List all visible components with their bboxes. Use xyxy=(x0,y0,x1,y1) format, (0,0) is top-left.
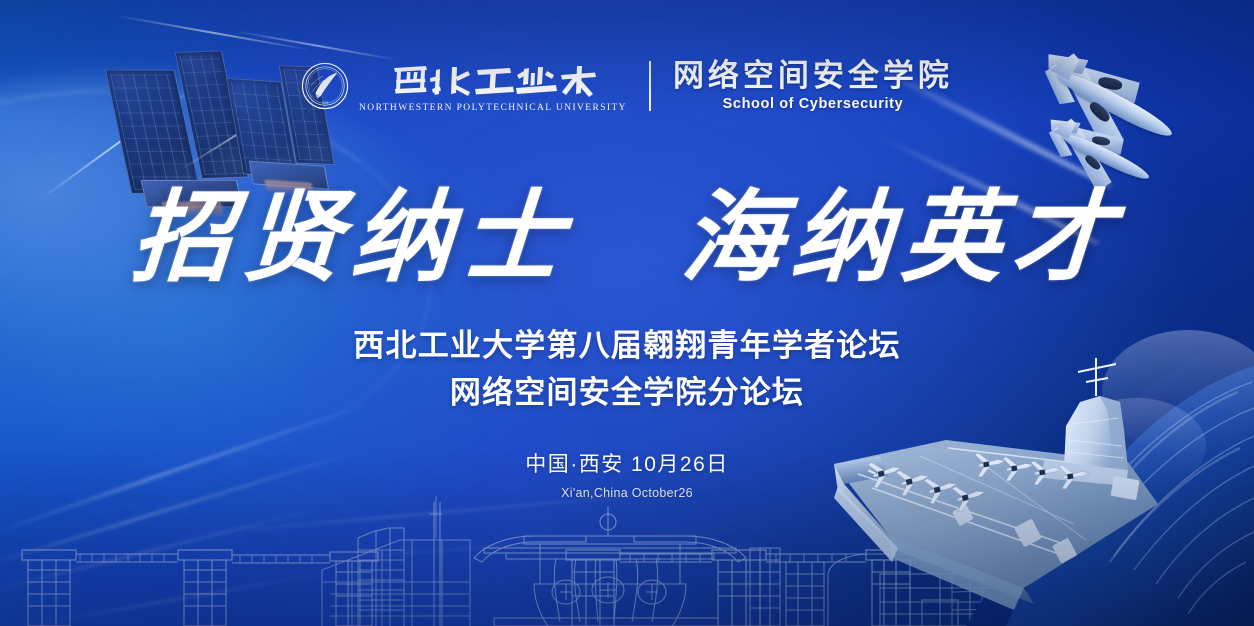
poster-canvas: 1938 xyxy=(0,0,1254,626)
vignette-overlay xyxy=(0,0,1254,626)
